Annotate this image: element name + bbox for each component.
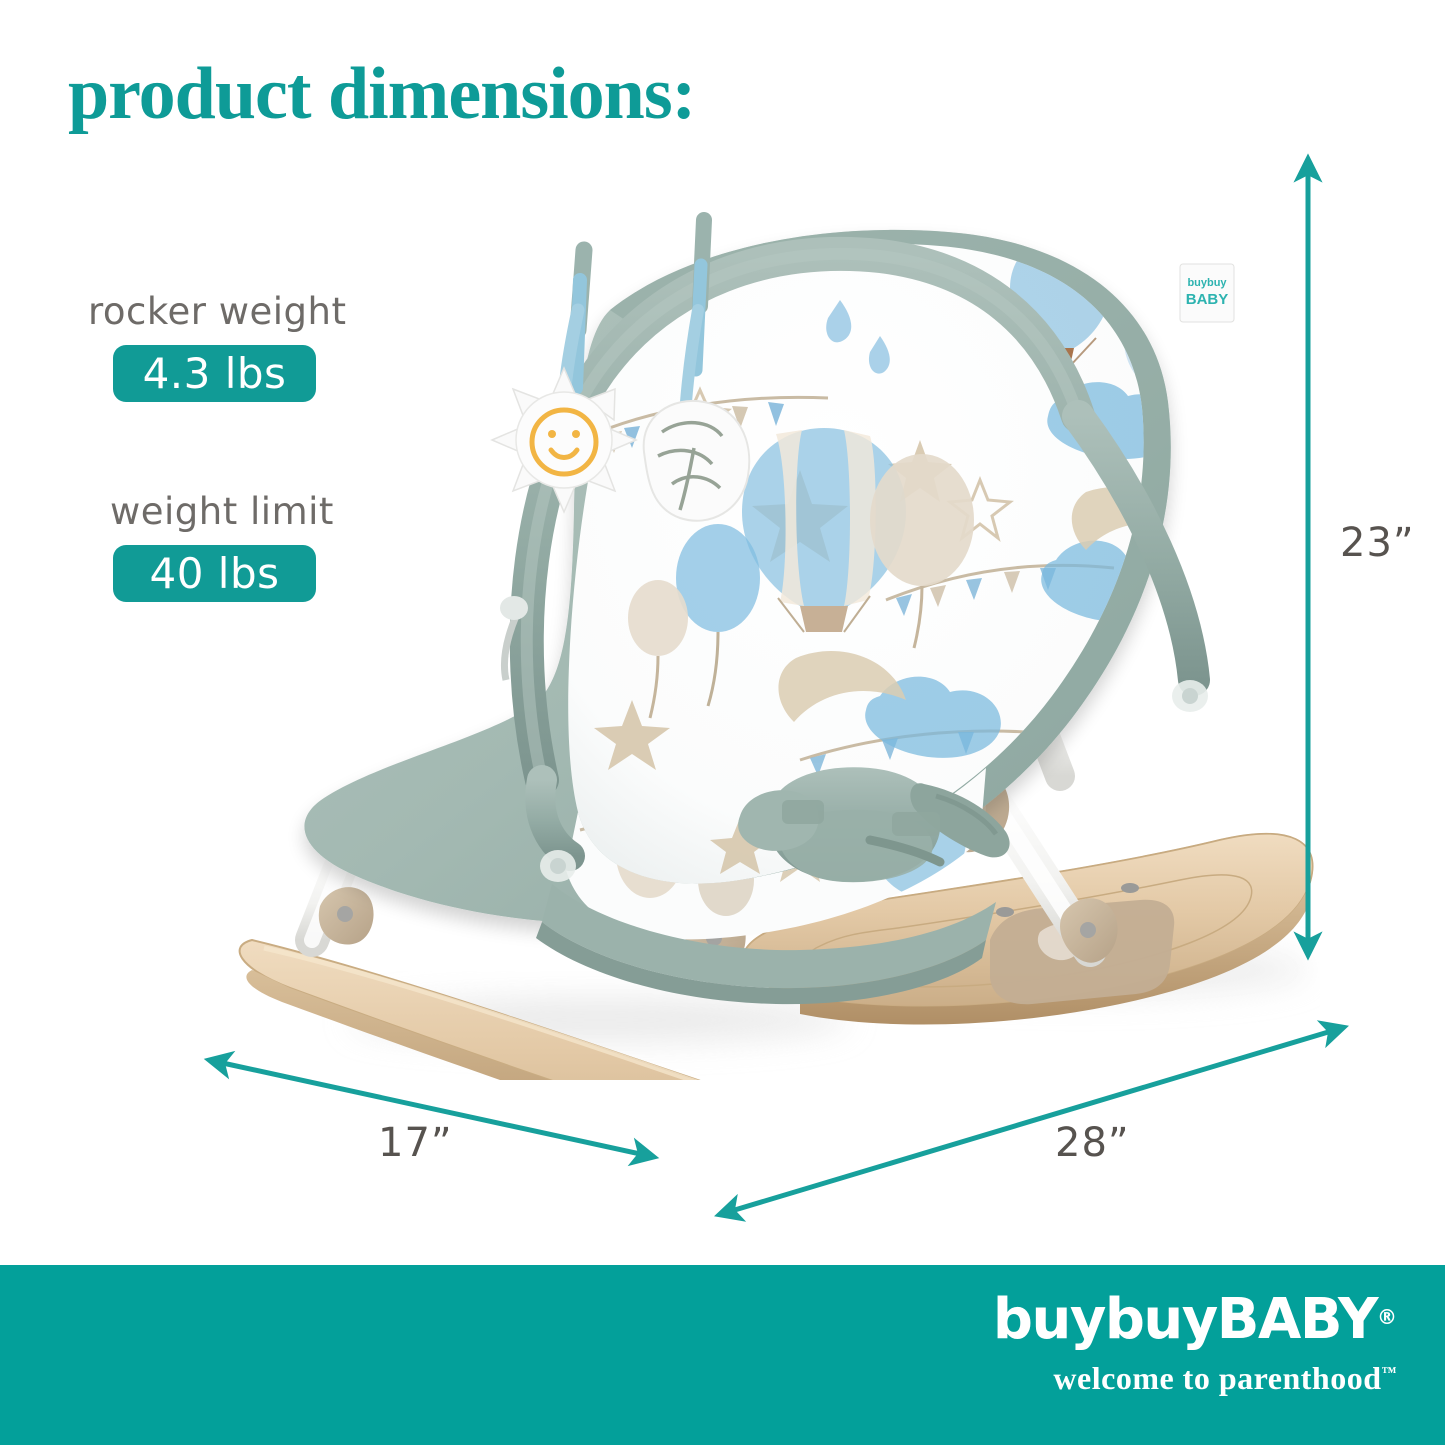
logo-buy-first: buy: [993, 1287, 1105, 1352]
logo-buy-second: buy: [1105, 1287, 1217, 1352]
page-title: product dimensions:: [68, 52, 695, 137]
brand-logo: buybuyBABY® welcome to parenthood™: [993, 1291, 1397, 1397]
brand-tagline: welcome to parenthood™: [993, 1360, 1397, 1397]
product-illustration: buybuy BABY: [180, 140, 1320, 1080]
registered-mark-icon: ®: [1377, 1305, 1397, 1329]
brand-logo-wordmark: buybuyBABY®: [993, 1291, 1397, 1350]
infographic-canvas: product dimensions: rocker weight 4.3 lb…: [0, 0, 1445, 1445]
dimension-label-depth: 17”: [378, 1120, 453, 1166]
trademark-icon: ™: [1382, 1365, 1398, 1381]
svg-text:BABY: BABY: [1186, 291, 1229, 308]
svg-text:buybuy: buybuy: [1187, 277, 1227, 289]
logo-baby: BABY: [1217, 1287, 1377, 1352]
footer-bar: buybuyBABY® welcome to parenthood™: [0, 1265, 1445, 1445]
seat-brand-tag: buybuy BABY: [1180, 264, 1234, 322]
dimension-label-height: 23”: [1340, 520, 1415, 566]
brand-tagline-text: welcome to parenthood: [1053, 1360, 1381, 1396]
dimension-label-width: 28”: [1055, 1120, 1130, 1166]
